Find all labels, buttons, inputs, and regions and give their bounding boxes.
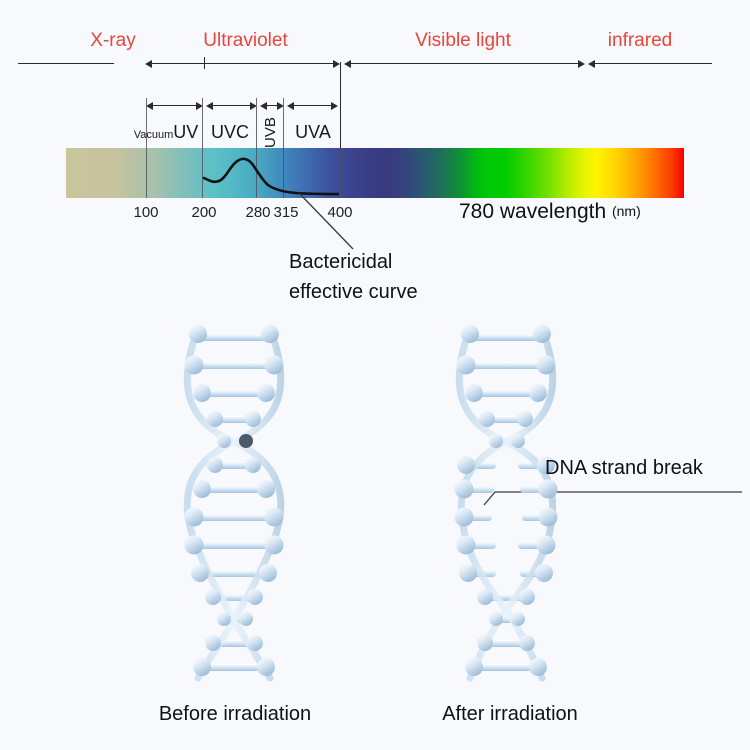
uv-axis-line xyxy=(149,63,337,64)
dna-backbone-strand-2-after xyxy=(461,328,552,678)
infrared-axis-line xyxy=(592,63,712,64)
bar-guide-315nm xyxy=(283,148,284,198)
dna-rungs-broken-after xyxy=(466,462,546,577)
visible-axis-line xyxy=(348,63,581,64)
uv-axis-tick-200 xyxy=(204,57,205,69)
xray-axis-line xyxy=(18,63,114,64)
dna-backbone-strand-2 xyxy=(187,328,281,678)
bar-guide-400nm xyxy=(340,148,341,198)
band-label-infrared: infrared xyxy=(575,30,705,52)
visible-arrow-right-head xyxy=(578,60,585,68)
bar-guide-280nm xyxy=(256,148,257,198)
bactericidal-curve-leader-line xyxy=(299,193,353,249)
band-label-visible-light: Visible light xyxy=(378,30,548,52)
bar-guide-100nm xyxy=(146,148,147,198)
dna-strand-break-label: DNA strand break xyxy=(545,457,703,480)
vacuumuv-span-line xyxy=(150,105,197,106)
band-label-ultraviolet: Ultraviolet xyxy=(178,30,313,52)
bar-guide-200nm xyxy=(202,148,203,198)
uv-arrow-right-head xyxy=(333,60,340,68)
wavelength-caption: 780 wavelength (nm) xyxy=(459,200,641,224)
wavelength-caption-value: 780 xyxy=(459,200,494,223)
wavelength-tick-315: 315 xyxy=(266,204,306,221)
bactericidal-curve-overlay xyxy=(0,0,750,750)
dna-helix-after xyxy=(432,318,582,688)
subband-label-uva: UVA xyxy=(286,122,340,143)
boundary-line-400nm xyxy=(340,62,341,150)
wavelength-tick-400: 400 xyxy=(320,204,360,221)
band-label-xray: X-ray xyxy=(58,30,168,52)
dna-helix-before xyxy=(160,318,310,688)
subband-label-vacuum-uv-prefix: Vacuum xyxy=(134,129,174,141)
wavelength-tick-200: 200 xyxy=(184,204,224,221)
subband-label-uvc: UVC xyxy=(204,122,256,143)
subband-divider-315nm xyxy=(283,98,284,150)
subband-label-vacuum-uv: VacuumUV xyxy=(128,122,204,143)
dna-caption-after: After irradiation xyxy=(400,703,620,726)
uva-arrow-right-head xyxy=(331,102,338,110)
subband-divider-280nm xyxy=(256,98,257,150)
wavelength-tick-100: 100 xyxy=(126,204,166,221)
subband-label-vacuum-uv-main: UV xyxy=(173,122,198,142)
dna-backbone-strand-1-after xyxy=(459,328,552,678)
wavelength-caption-word: wavelength xyxy=(500,200,606,223)
wavelength-caption-unit: (nm) xyxy=(612,203,641,219)
uva-span-line xyxy=(291,105,333,106)
dna-caption-before: Before irradiation xyxy=(125,703,345,726)
dna-nodes-after xyxy=(455,325,558,676)
uvc-span-line xyxy=(210,105,252,106)
bactericidal-curve-label-line2: effective curve xyxy=(289,281,418,304)
bactericidal-curve-label-line1: Bactericidal xyxy=(289,251,392,274)
subband-label-uvb: UVB xyxy=(262,114,279,152)
figure-canvas: X-ray Ultraviolet Visible light infrared… xyxy=(0,0,750,750)
spectrum-gradient-bar xyxy=(66,148,684,198)
